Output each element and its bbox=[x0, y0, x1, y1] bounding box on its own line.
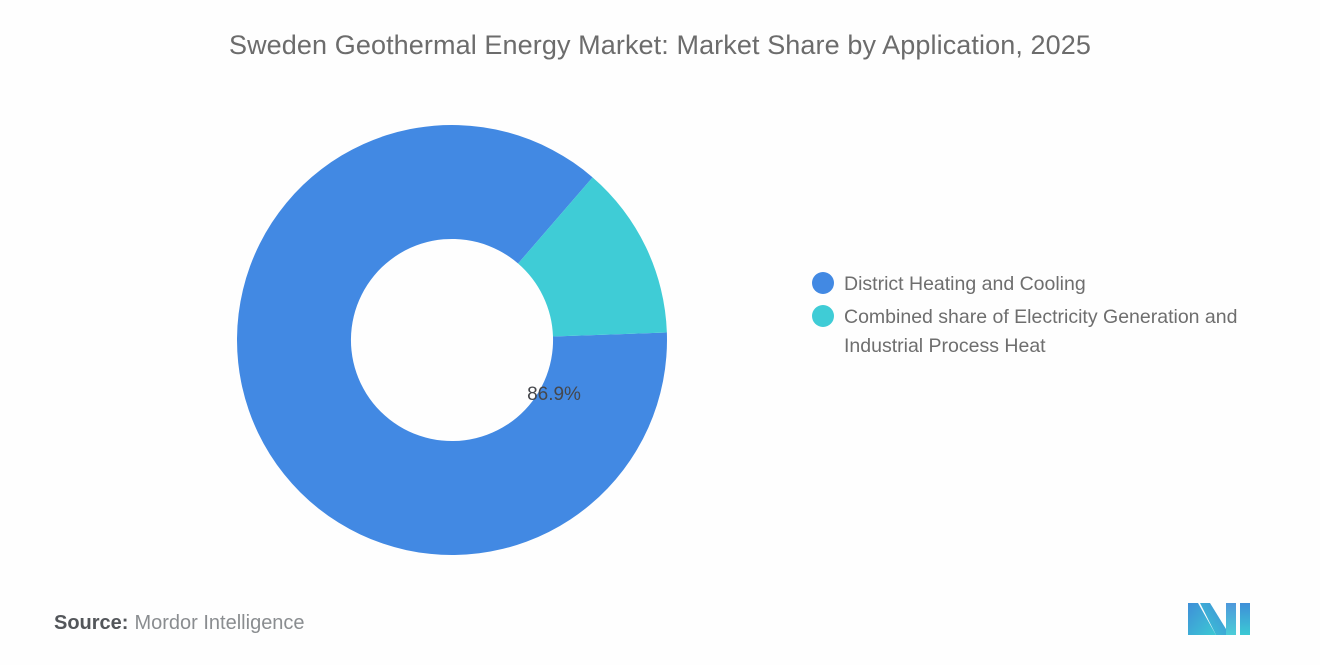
chart-canvas: Sweden Geothermal Energy Market: Market … bbox=[0, 0, 1320, 665]
donut-chart-svg bbox=[234, 122, 670, 558]
source-line: Source:Mordor Intelligence bbox=[54, 612, 305, 635]
mordor-intelligence-logo-icon bbox=[1186, 597, 1256, 635]
source-label: Source: bbox=[54, 612, 128, 634]
legend-label-combined-share: Combined share of Electricity Generation… bbox=[844, 303, 1276, 361]
page-title: Sweden Geothermal Energy Market: Market … bbox=[0, 30, 1320, 61]
donut-chart: 86.9% bbox=[234, 122, 670, 558]
legend-item-district-heating[interactable]: District Heating and Cooling bbox=[812, 270, 1282, 299]
legend-swatch-icon-combined-share bbox=[812, 305, 834, 327]
source-value: Mordor Intelligence bbox=[134, 612, 304, 634]
legend-item-combined-share[interactable]: Combined share of Electricity Generation… bbox=[812, 303, 1282, 361]
legend-label-district-heating: District Heating and Cooling bbox=[844, 270, 1086, 299]
legend-swatch-icon-district-heating bbox=[812, 272, 834, 294]
chart-legend: District Heating and Cooling Combined sh… bbox=[812, 270, 1282, 365]
